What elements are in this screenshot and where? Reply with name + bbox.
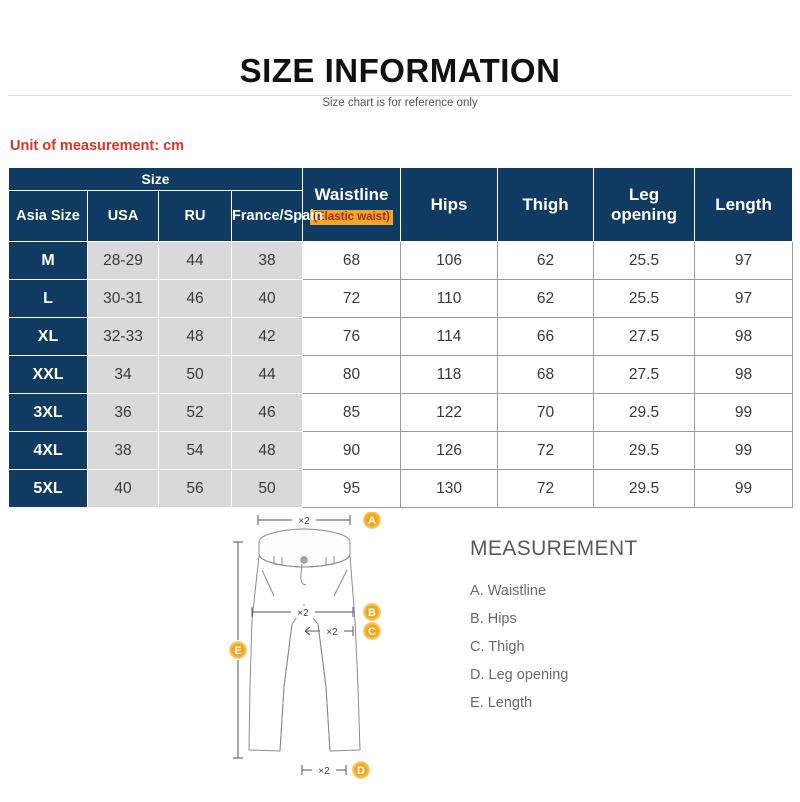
multiplier-label-a: ×2 xyxy=(298,516,310,527)
table-row: 5XL405650951307229.599 xyxy=(9,470,793,508)
badge-label-b: B xyxy=(368,607,376,619)
table-row: 3XL365246851227029.599 xyxy=(9,394,793,432)
cell-asia-size: XXL xyxy=(9,356,88,394)
header-waistline-label: Waistline xyxy=(303,185,400,205)
cell-asia-size: 4XL xyxy=(9,432,88,470)
cell-hips: 106 xyxy=(401,242,498,280)
header-ru: RU xyxy=(159,191,232,242)
measurement-item-hips: B. Hips xyxy=(470,605,770,633)
header-hips: Hips xyxy=(401,168,498,242)
pants-outline-icon xyxy=(249,529,360,751)
cell-waistline: 76 xyxy=(303,318,401,356)
table-row: L30-314640721106225.597 xyxy=(9,280,793,318)
multiplier-label-c: ×2 xyxy=(326,627,338,638)
cell-france-spain: 50 xyxy=(232,470,303,508)
cell-thigh: 70 xyxy=(498,394,594,432)
cell-thigh: 68 xyxy=(498,356,594,394)
cell-leg-opening: 25.5 xyxy=(594,242,695,280)
cell-length: 98 xyxy=(695,318,793,356)
measurement-title: MEASUREMENT xyxy=(470,537,770,561)
cell-leg-opening: 29.5 xyxy=(594,394,695,432)
cell-usa: 30-31 xyxy=(88,280,159,318)
page-title: SIZE INFORMATION xyxy=(0,52,800,90)
cell-thigh: 62 xyxy=(498,280,594,318)
header-length: Length xyxy=(695,168,793,242)
cell-leg-opening: 29.5 xyxy=(594,470,695,508)
cell-hips: 114 xyxy=(401,318,498,356)
cell-france-spain: 44 xyxy=(232,356,303,394)
cell-usa: 38 xyxy=(88,432,159,470)
cell-hips: 110 xyxy=(401,280,498,318)
header-asia-size: Asia Size xyxy=(9,191,88,242)
table-row: XL32-334842761146627.598 xyxy=(9,318,793,356)
cell-waistline: 95 xyxy=(303,470,401,508)
header-thigh: Thigh xyxy=(498,168,594,242)
cell-waistline: 72 xyxy=(303,280,401,318)
badge-e: E xyxy=(229,641,247,659)
cell-asia-size: L xyxy=(9,280,88,318)
cell-ru: 46 xyxy=(159,280,232,318)
badge-d: D xyxy=(352,761,370,779)
header-leg-opening: Leg opening xyxy=(594,168,695,242)
cell-hips: 130 xyxy=(401,470,498,508)
cell-asia-size: M xyxy=(9,242,88,280)
cell-waistline: 90 xyxy=(303,432,401,470)
cell-usa: 36 xyxy=(88,394,159,432)
cell-leg-opening: 29.5 xyxy=(594,432,695,470)
cell-thigh: 72 xyxy=(498,470,594,508)
cell-hips: 126 xyxy=(401,432,498,470)
cell-thigh: 62 xyxy=(498,242,594,280)
cell-france-spain: 38 xyxy=(232,242,303,280)
measurement-legend: MEASUREMENT A. Waistline B. Hips C. Thig… xyxy=(470,537,770,717)
cell-length: 99 xyxy=(695,394,793,432)
cell-usa: 28-29 xyxy=(88,242,159,280)
table-row: M28-294438681066225.597 xyxy=(9,242,793,280)
cell-asia-size: XL xyxy=(9,318,88,356)
badge-label-c: C xyxy=(368,626,376,638)
table-row: XXL345044801186827.598 xyxy=(9,356,793,394)
cell-ru: 52 xyxy=(159,394,232,432)
badge-label-a: A xyxy=(368,515,376,527)
cell-waistline: 85 xyxy=(303,394,401,432)
cell-france-spain: 40 xyxy=(232,280,303,318)
cell-length: 99 xyxy=(695,470,793,508)
badge-b: B xyxy=(363,603,381,621)
badge-c: C xyxy=(363,622,381,640)
measurement-item-length: E. Length xyxy=(470,689,770,717)
cell-leg-opening: 27.5 xyxy=(594,356,695,394)
cell-length: 97 xyxy=(695,280,793,318)
size-chart-body: M28-294438681066225.597 L30-314640721106… xyxy=(9,242,793,508)
header-size-group: Size xyxy=(9,168,303,191)
cell-france-spain: 48 xyxy=(232,432,303,470)
cell-france-spain: 46 xyxy=(232,394,303,432)
cell-leg-opening: 27.5 xyxy=(594,318,695,356)
cell-thigh: 72 xyxy=(498,432,594,470)
cell-ru: 48 xyxy=(159,318,232,356)
cell-usa: 32-33 xyxy=(88,318,159,356)
cell-length: 98 xyxy=(695,356,793,394)
measurement-item-leg-opening: D. Leg opening xyxy=(470,661,770,689)
header-waistline: Waistline (Elastic waist) xyxy=(303,168,401,242)
multiplier-label-d: ×2 xyxy=(318,766,330,777)
cell-ru: 54 xyxy=(159,432,232,470)
size-chart-table: Size Waistline (Elastic waist) Hips Thig… xyxy=(8,167,793,508)
cell-length: 97 xyxy=(695,242,793,280)
cell-asia-size: 3XL xyxy=(9,394,88,432)
cell-asia-size: 5XL xyxy=(9,470,88,508)
badge-label-e: E xyxy=(234,645,241,657)
badge-a: A xyxy=(363,512,381,529)
pants-measurement-diagram: ×2 ×2 ×2 ×2 xyxy=(222,512,422,797)
header-usa: USA xyxy=(88,191,159,242)
cell-hips: 118 xyxy=(401,356,498,394)
cell-waistline: 80 xyxy=(303,356,401,394)
cell-ru: 56 xyxy=(159,470,232,508)
table-header-group-row: Size Waistline (Elastic waist) Hips Thig… xyxy=(9,168,793,191)
title-divider xyxy=(8,95,792,96)
cell-waistline: 68 xyxy=(303,242,401,280)
unit-of-measurement-note: Unit of measurement: cm xyxy=(10,138,184,154)
multiplier-label-b: ×2 xyxy=(297,608,309,619)
badge-label-d: D xyxy=(357,765,365,777)
header-france-spain: France/Spain xyxy=(232,191,303,242)
cell-ru: 44 xyxy=(159,242,232,280)
measurement-item-waistline: A. Waistline xyxy=(470,577,770,605)
table-row: 4XL385448901267229.599 xyxy=(9,432,793,470)
cell-thigh: 66 xyxy=(498,318,594,356)
cell-usa: 34 xyxy=(88,356,159,394)
cell-hips: 122 xyxy=(401,394,498,432)
cell-length: 99 xyxy=(695,432,793,470)
cell-ru: 50 xyxy=(159,356,232,394)
page-subtitle: Size chart is for reference only xyxy=(0,97,800,109)
cell-france-spain: 42 xyxy=(232,318,303,356)
cell-leg-opening: 25.5 xyxy=(594,280,695,318)
measurement-item-thigh: C. Thigh xyxy=(470,633,770,661)
cell-usa: 40 xyxy=(88,470,159,508)
